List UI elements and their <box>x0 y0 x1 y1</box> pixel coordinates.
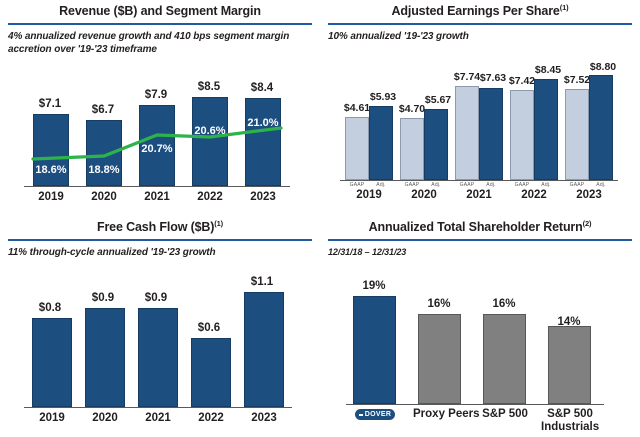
fcf-bar-2023 <box>244 292 284 407</box>
fcf-value-label: $0.8 <box>26 302 74 314</box>
panel-tsr-title-text: Annualized Total Shareholder Return <box>369 220 583 234</box>
fcf-bar-2022 <box>191 338 231 407</box>
eps-series-label-gaap: GAAP <box>345 182 369 188</box>
eps-chart-plot: $4.61 $5.93 $4.70 $5.67 $7.74 $7.63 $7.4… <box>320 62 640 216</box>
fcf-value-label: $1.1 <box>238 276 286 288</box>
tsr-x-label-sp500-industrials-line2: Industrials <box>541 421 599 434</box>
eps-x-axis <box>340 180 618 181</box>
panel-tsr-title: Annualized Total Shareholder Return(2) <box>320 216 640 238</box>
fcf-value-label: $0.9 <box>79 292 127 304</box>
eps-series-label-gaap: GAAP <box>400 182 424 188</box>
eps-bar-adj-2021 <box>479 88 503 180</box>
tsr-x-label-sp500-industrials-line1: S&P 500 <box>541 408 599 421</box>
panel-eps-title-superscript: (1) <box>560 3 569 12</box>
revenue-x-axis <box>24 186 290 187</box>
panel-fcf-title-superscript: (1) <box>214 219 223 228</box>
tsr-value-label: 16% <box>413 298 465 310</box>
tsr-bar-sp500-industrials <box>548 326 591 404</box>
eps-series-label-gaap: GAAP <box>455 182 479 188</box>
revenue-x-label-2022: 2022 <box>186 191 234 204</box>
dover-logo: DOVER <box>355 409 395 420</box>
revenue-x-label-2019: 2019 <box>27 191 75 204</box>
eps-x-label-2021: 2021 <box>455 189 503 202</box>
eps-bar-gaap-2022 <box>510 90 534 180</box>
fcf-x-label-2023: 2023 <box>240 412 288 425</box>
panel-tsr-title-superscript: (2) <box>583 219 592 228</box>
slide-root: Revenue ($B) and Segment Margin 4% annua… <box>0 0 640 437</box>
revenue-x-label-2023: 2023 <box>239 191 287 204</box>
eps-x-label-2019: 2019 <box>345 189 393 202</box>
fcf-value-label: $0.6 <box>185 322 233 334</box>
eps-bar-gaap-2019 <box>345 117 369 180</box>
eps-series-label-adj: Adj. <box>479 182 503 188</box>
revenue-margin-label: 20.6% <box>186 125 234 137</box>
tsr-value-label: 19% <box>348 280 400 292</box>
tsr-x-label-sp500: S&P 500 <box>478 408 532 421</box>
dover-logo-text: DOVER <box>365 411 391 418</box>
tsr-x-label-proxy-peers: Proxy Peers <box>413 408 467 421</box>
eps-series-label-gaap: GAAP <box>565 182 589 188</box>
fcf-bar-2020 <box>85 308 125 407</box>
eps-bar-adj-2023 <box>589 75 613 180</box>
panel-revenue-title: Revenue ($B) and Segment Margin <box>0 0 320 22</box>
panel-revenue-title-text: Revenue ($B) and Segment Margin <box>59 4 261 18</box>
fcf-bar-2019 <box>32 318 72 407</box>
revenue-margin-label: 21.0% <box>239 117 287 129</box>
eps-series-label-adj: Adj. <box>589 182 613 188</box>
panel-eps-subtitle: 10% annualized '19-'23 growth <box>320 25 640 44</box>
fcf-bar-2021 <box>138 308 178 407</box>
tsr-bar-proxy-peers <box>418 314 461 404</box>
eps-x-label-2023: 2023 <box>565 189 613 202</box>
tsr-bar-dover <box>353 296 396 404</box>
panel-eps: Adjusted Earnings Per Share(1) 10% annua… <box>320 0 640 216</box>
panel-eps-title-text: Adjusted Earnings Per Share <box>392 4 560 18</box>
revenue-x-label-2020: 2020 <box>80 191 128 204</box>
revenue-x-label-2021: 2021 <box>133 191 181 204</box>
eps-bar-adj-2020 <box>424 109 448 180</box>
eps-adj-value-label: $8.80 <box>583 61 623 73</box>
fcf-x-label-2022: 2022 <box>187 412 235 425</box>
revenue-margin-label: 18.8% <box>80 164 128 176</box>
panel-revenue: Revenue ($B) and Segment Margin 4% annua… <box>0 0 320 216</box>
eps-bar-gaap-2023 <box>565 89 589 180</box>
tsr-chart-plot: 19% 16% 16% 14% DOVER Proxy Peers S&P 50… <box>320 272 640 437</box>
tsr-value-label: 16% <box>478 298 530 310</box>
panel-fcf: Free Cash Flow ($B)(1) 11% through-cycle… <box>0 216 320 437</box>
eps-x-label-2020: 2020 <box>400 189 448 202</box>
panel-tsr: Annualized Total Shareholder Return(2) 1… <box>320 216 640 437</box>
tsr-bar-sp500 <box>483 314 526 404</box>
panel-tsr-subtitle: 12/31/18 – 12/31/23 <box>320 241 640 259</box>
fcf-x-label-2019: 2019 <box>28 412 76 425</box>
fcf-x-label-2021: 2021 <box>134 412 182 425</box>
eps-bar-gaap-2020 <box>400 118 424 180</box>
fcf-x-label-2020: 2020 <box>81 412 129 425</box>
eps-bar-adj-2022 <box>534 79 558 180</box>
eps-adj-value-label: $5.93 <box>363 91 403 103</box>
dover-logo-dash-icon <box>359 414 363 416</box>
fcf-value-label: $0.9 <box>132 292 180 304</box>
eps-series-label-adj: Adj. <box>424 182 448 188</box>
revenue-margin-label: 18.6% <box>27 164 75 176</box>
panel-fcf-title-text: Free Cash Flow ($B) <box>97 220 214 234</box>
eps-series-label-gaap: GAAP <box>510 182 534 188</box>
panel-eps-title: Adjusted Earnings Per Share(1) <box>320 0 640 22</box>
eps-series-label-adj: Adj. <box>534 182 558 188</box>
eps-bar-gaap-2021 <box>455 86 479 180</box>
fcf-x-axis <box>24 407 292 408</box>
panel-fcf-subtitle: 11% through-cycle annualized '19-'23 gro… <box>0 241 320 260</box>
panel-revenue-subtitle: 4% annualized revenue growth and 410 bps… <box>0 25 320 57</box>
eps-series-label-adj: Adj. <box>369 182 393 188</box>
revenue-chart-plot: $7.1 $6.7 $7.9 $8.5 $8.4 18.6% 18.8% 20.… <box>0 78 320 216</box>
eps-bar-adj-2019 <box>369 106 393 180</box>
tsr-x-axis <box>346 404 604 405</box>
panel-fcf-title: Free Cash Flow ($B)(1) <box>0 216 320 238</box>
eps-adj-value-label: $5.67 <box>418 94 458 106</box>
revenue-margin-label: 20.7% <box>133 143 181 155</box>
fcf-chart-plot: $0.8 $0.9 $0.9 $0.6 $1.1 2019 2020 2021 … <box>0 274 320 437</box>
eps-x-label-2022: 2022 <box>510 189 558 202</box>
